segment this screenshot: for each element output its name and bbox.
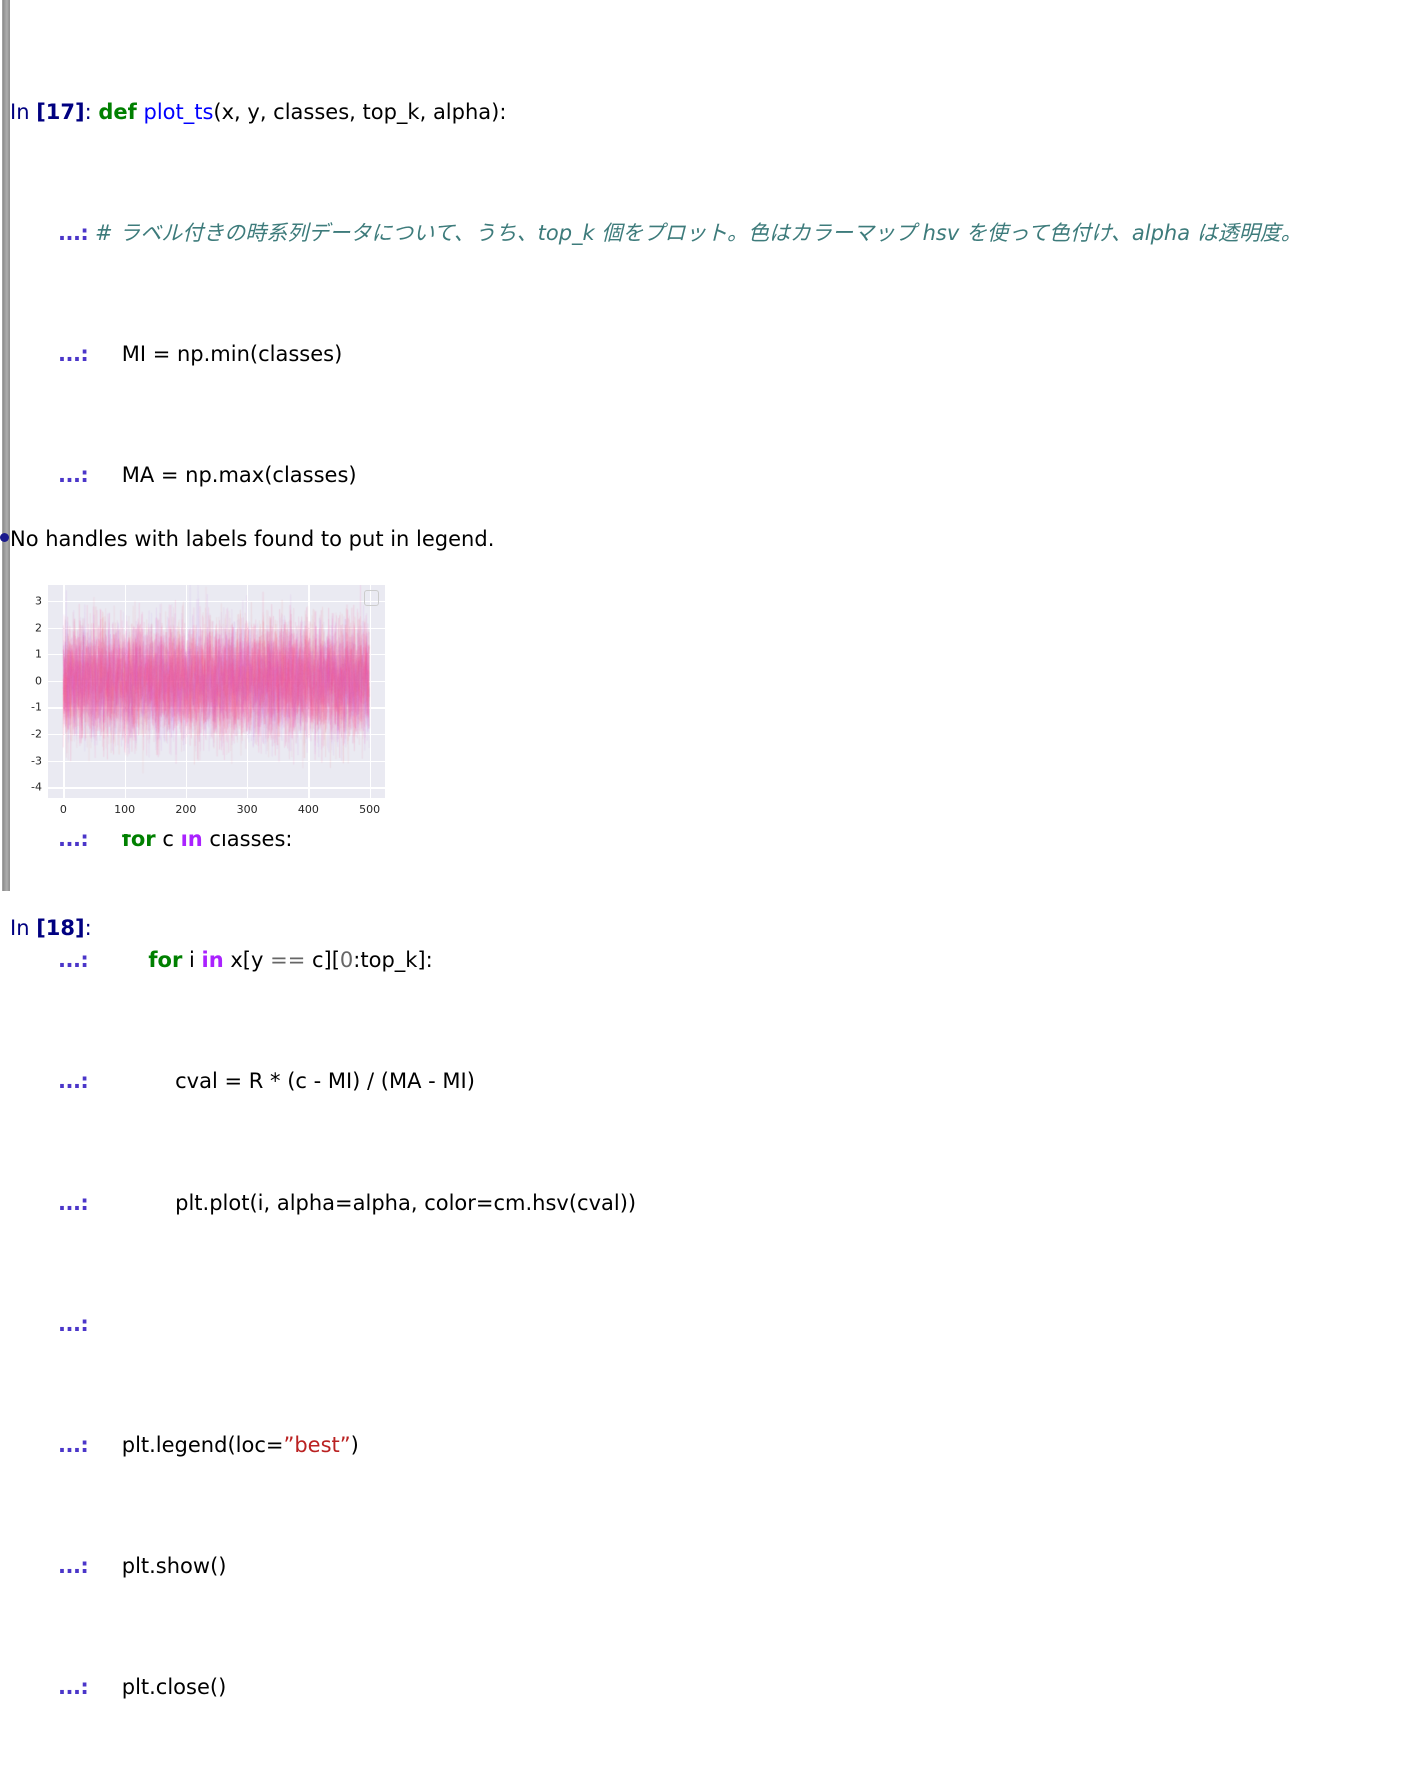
code-line-legend: ...: plt.legend(loc=”best”) — [10, 1430, 1426, 1460]
y-axis-tick-label: 2 — [35, 621, 42, 634]
axis-tick-layer: 3210-1-2-3-40100200300400500 — [48, 585, 385, 798]
x-axis-tick-label: 400 — [298, 803, 319, 816]
input-prompt-label: In — [10, 100, 30, 124]
stderr-output: No handles with labels found to put in l… — [10, 525, 494, 553]
y-axis-tick-label: -1 — [31, 701, 42, 714]
code-line-cval: ...: cval = R * (c - MI) / (MA - MI) — [10, 1066, 1426, 1096]
y-axis-tick-label: -4 — [31, 781, 42, 794]
keyword-def: def — [98, 100, 136, 124]
input-prompt-number: [17] — [36, 100, 84, 124]
code-text: plt.close() — [95, 1675, 226, 1699]
y-axis-tick-label: -2 — [31, 728, 42, 741]
code-line-ma: ...: MA = np.max(classes) — [10, 460, 1426, 490]
x-axis-tick-label: 300 — [237, 803, 258, 816]
continuation-prompt: ...: — [58, 1675, 88, 1699]
x-axis-tick-label: 0 — [60, 803, 67, 816]
next-input-prompt-number: [18] — [36, 916, 84, 940]
input-cell-18[interactable]: In [18]: — [10, 852, 1426, 1003]
code-text: MI = np.min(classes) — [95, 342, 342, 366]
continuation-prompt: ...: — [58, 1554, 88, 1578]
code-text: plt.legend(loc= — [95, 1433, 283, 1457]
comment-text: # ラベル付きの時系列データについて、うち、top_k 個をプロット。色はカラー… — [95, 221, 1302, 245]
string-literal: ”best” — [283, 1433, 350, 1457]
continuation-prompt: ...: — [58, 1312, 88, 1336]
code-line-def: In [17]: def plot_ts(x, y, classes, top_… — [10, 97, 1426, 127]
code-line-mi: ...: MI = np.min(classes) — [10, 339, 1426, 369]
notebook-sheet: In [17]: def plot_ts(x, y, classes, top_… — [10, 0, 1426, 891]
y-axis-tick-label: -3 — [31, 754, 42, 767]
continuation-prompt: ...: — [58, 1433, 88, 1457]
continuation-prompt: ...: — [58, 342, 88, 366]
scrollbar-thumb[interactable] — [2, 0, 10, 891]
x-axis-tick-label: 200 — [175, 803, 196, 816]
stderr-indicator-dot — [0, 533, 9, 542]
code-line-close: ...: plt.close() — [10, 1672, 1426, 1702]
x-axis-tick-label: 100 — [114, 803, 135, 816]
continuation-prompt: ...: — [58, 1069, 88, 1093]
code-text: plt.show() — [95, 1554, 226, 1578]
code-line-comment: ...: # ラベル付きの時系列データについて、うち、top_k 個をプロット。… — [10, 218, 1426, 248]
y-axis-tick-label: 0 — [35, 674, 42, 687]
code-text: cval = R * (c - MI) / (MA - MI) — [95, 1069, 475, 1093]
code-text: MA = np.max(classes) — [95, 463, 357, 487]
code-line-blank-1: ...: — [10, 1309, 1426, 1339]
next-input-prompt-separator: : — [85, 916, 92, 940]
continuation-prompt: ...: — [58, 1191, 88, 1215]
matplotlib-figure-output: 3210-1-2-3-40100200300400500 — [28, 572, 408, 834]
continuation-prompt: ...: — [58, 221, 88, 245]
code-text: plt.plot(i, alpha=alpha, color=cm.hsv(cv… — [95, 1191, 636, 1215]
x-axis-tick-label: 500 — [359, 803, 380, 816]
window-scrollbar-gutter[interactable] — [2, 0, 10, 891]
y-axis-tick-label: 3 — [35, 594, 42, 607]
function-signature: (x, y, classes, top_k, alpha): — [213, 100, 506, 124]
code-line-next-prompt: In [18]: — [10, 913, 1426, 943]
y-axis-tick-label: 1 — [35, 648, 42, 661]
code-text: ) — [351, 1433, 359, 1457]
code-line-show: ...: plt.show() — [10, 1551, 1426, 1581]
input-prompt-separator: : — [85, 100, 92, 124]
code-line-plot: ...: plt.plot(i, alpha=alpha, color=cm.h… — [10, 1188, 1426, 1218]
continuation-prompt: ...: — [58, 463, 88, 487]
next-input-prompt-label: In — [10, 916, 30, 940]
function-name: plot_ts — [144, 100, 214, 124]
